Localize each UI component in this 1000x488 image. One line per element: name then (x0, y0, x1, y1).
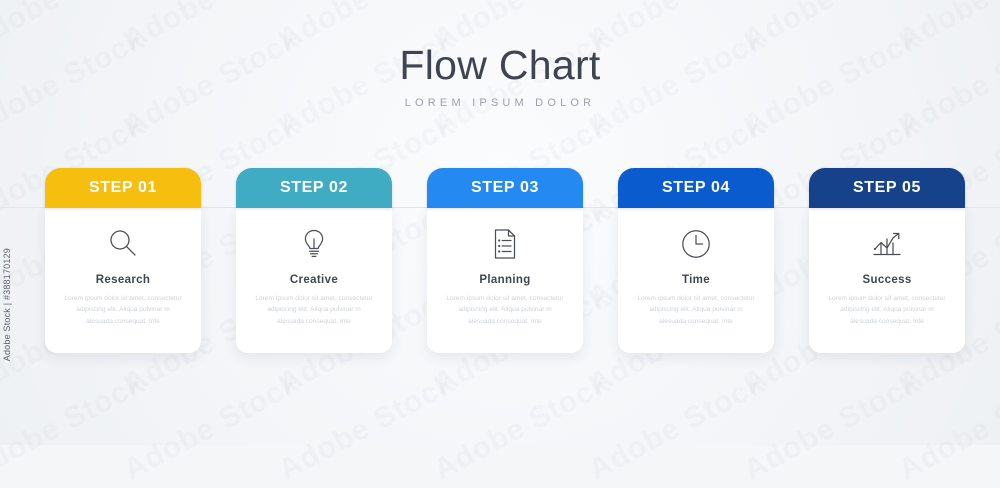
clock-icon (677, 224, 715, 264)
magnifier-icon (104, 224, 142, 264)
step-header-4[interactable]: STEP 04 (618, 168, 774, 208)
step-card-2[interactable]: STEP 02CreativeLorem ipsum dolor sit ame… (236, 168, 392, 353)
step-title: Time (682, 274, 710, 286)
step-description: Lorem ipsum dolor sit amet, consectetur … (446, 293, 564, 327)
watermark-text: Adobe Stock (893, 366, 1000, 487)
step-header-5[interactable]: STEP 05 (809, 168, 965, 208)
step-badge-label: STEP 03 (471, 179, 539, 197)
step-header-2[interactable]: STEP 02 (236, 168, 392, 208)
step-description: Lorem ipsum dolor sit amet, consectetur … (828, 293, 946, 327)
step-card-3[interactable]: STEP 03PlanningLorem ipsum dolor sit ame… (427, 168, 583, 353)
step-badge-label: STEP 02 (280, 179, 348, 197)
step-title: Success (862, 274, 911, 286)
step-body-3: PlanningLorem ipsum dolor sit amet, cons… (427, 207, 583, 353)
step-description: Lorem ipsum dolor sit amet, consectetur … (637, 293, 755, 327)
watermark-text: Adobe Stock (273, 366, 461, 487)
watermark-text: Adobe Stock (583, 366, 771, 487)
step-body-1: ResearchLorem ipsum dolor sit amet, cons… (45, 207, 201, 353)
step-card-4[interactable]: STEP 04TimeLorem ipsum dolor sit amet, c… (618, 168, 774, 353)
watermark-text: Adobe Stock (0, 366, 151, 487)
stock-credit-watermark: Adobe Stock | #388170129 (2, 248, 12, 361)
step-title: Research (96, 274, 151, 286)
watermark-text: Adobe Stock (428, 366, 616, 487)
step-body-5: SuccessLorem ipsum dolor sit amet, conse… (809, 207, 965, 353)
step-badge-label: STEP 01 (89, 179, 157, 197)
growth-chart-icon (868, 224, 906, 264)
step-badge-label: STEP 05 (853, 179, 921, 197)
watermark-text: Adobe Stock (738, 366, 926, 487)
step-badge-label: STEP 04 (662, 179, 730, 197)
page-title: Flow Chart (0, 44, 1000, 87)
step-header-3[interactable]: STEP 03 (427, 168, 583, 208)
step-body-4: TimeLorem ipsum dolor sit amet, consecte… (618, 207, 774, 353)
watermark-text: Adobe Stock (118, 366, 306, 487)
steps-container: STEP 01ResearchLorem ipsum dolor sit ame… (45, 168, 965, 358)
step-title: Planning (479, 274, 530, 286)
lightbulb-icon (295, 224, 333, 264)
step-description: Lorem ipsum dolor sit amet, consectetur … (64, 293, 182, 327)
page-header: Flow Chart LOREM IPSUM DOLOR (0, 44, 1000, 109)
step-card-5[interactable]: STEP 05SuccessLorem ipsum dolor sit amet… (809, 168, 965, 353)
step-header-1[interactable]: STEP 01 (45, 168, 201, 208)
step-title: Creative (290, 274, 338, 286)
step-card-1[interactable]: STEP 01ResearchLorem ipsum dolor sit ame… (45, 168, 201, 353)
page-subtitle: LOREM IPSUM DOLOR (0, 97, 1000, 109)
document-checklist-icon (486, 224, 524, 264)
step-description: Lorem ipsum dolor sit amet, consectetur … (255, 293, 373, 327)
step-body-2: CreativeLorem ipsum dolor sit amet, cons… (236, 207, 392, 353)
